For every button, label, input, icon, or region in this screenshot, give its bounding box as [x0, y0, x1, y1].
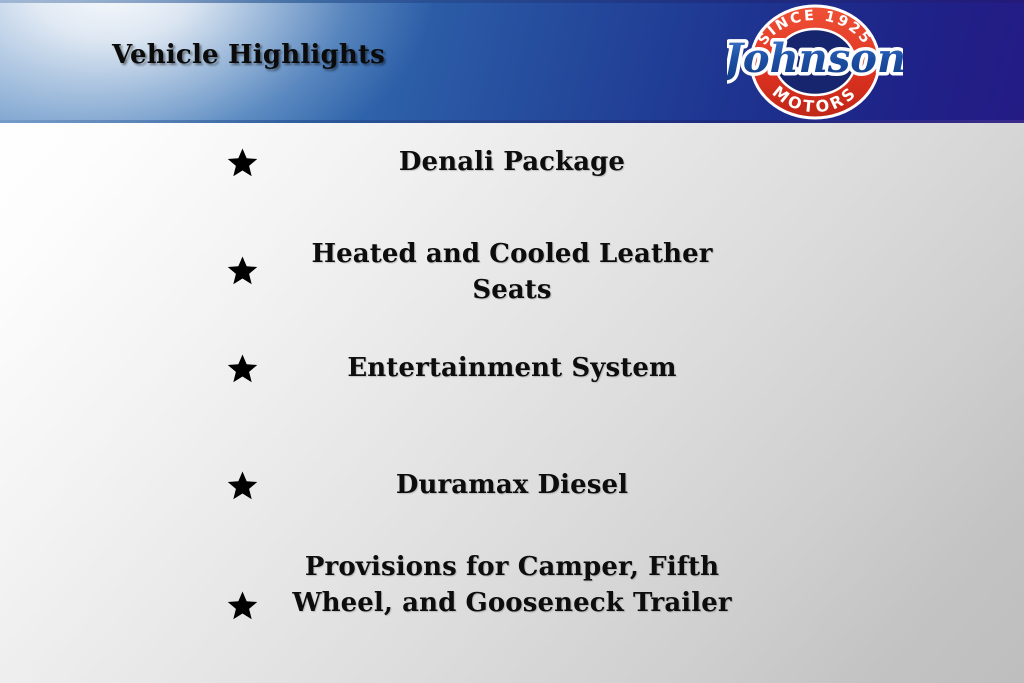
star-icon [227, 147, 258, 178]
svg-text:Johnson: Johnson [727, 35, 903, 82]
logo-wordmark: Johnson Johnson [727, 35, 903, 82]
page-title: Vehicle Highlights [112, 40, 385, 70]
header-banner: Vehicle Highlights [0, 0, 1024, 123]
list-item-label: Entertainment System [282, 350, 742, 386]
list-item-label: Heated and Cooled Leather Seats [282, 236, 742, 308]
slide-canvas: Vehicle Highlights [0, 0, 1024, 683]
johnson-motors-logo: SINCE 1925 MOTORS Johnson Johnson [727, 2, 903, 122]
star-icon [227, 353, 258, 384]
star-icon [227, 255, 258, 286]
star-icon [227, 470, 258, 501]
list-item-label: Duramax Diesel [282, 467, 742, 503]
list-item-label: Provisions for Camper, Fifth Wheel, and … [282, 549, 742, 621]
vehicle-highlights-list: Denali Package Heated and Cooled Leather… [0, 123, 1024, 683]
star-icon [227, 590, 258, 621]
list-item-label: Denali Package [282, 144, 742, 180]
